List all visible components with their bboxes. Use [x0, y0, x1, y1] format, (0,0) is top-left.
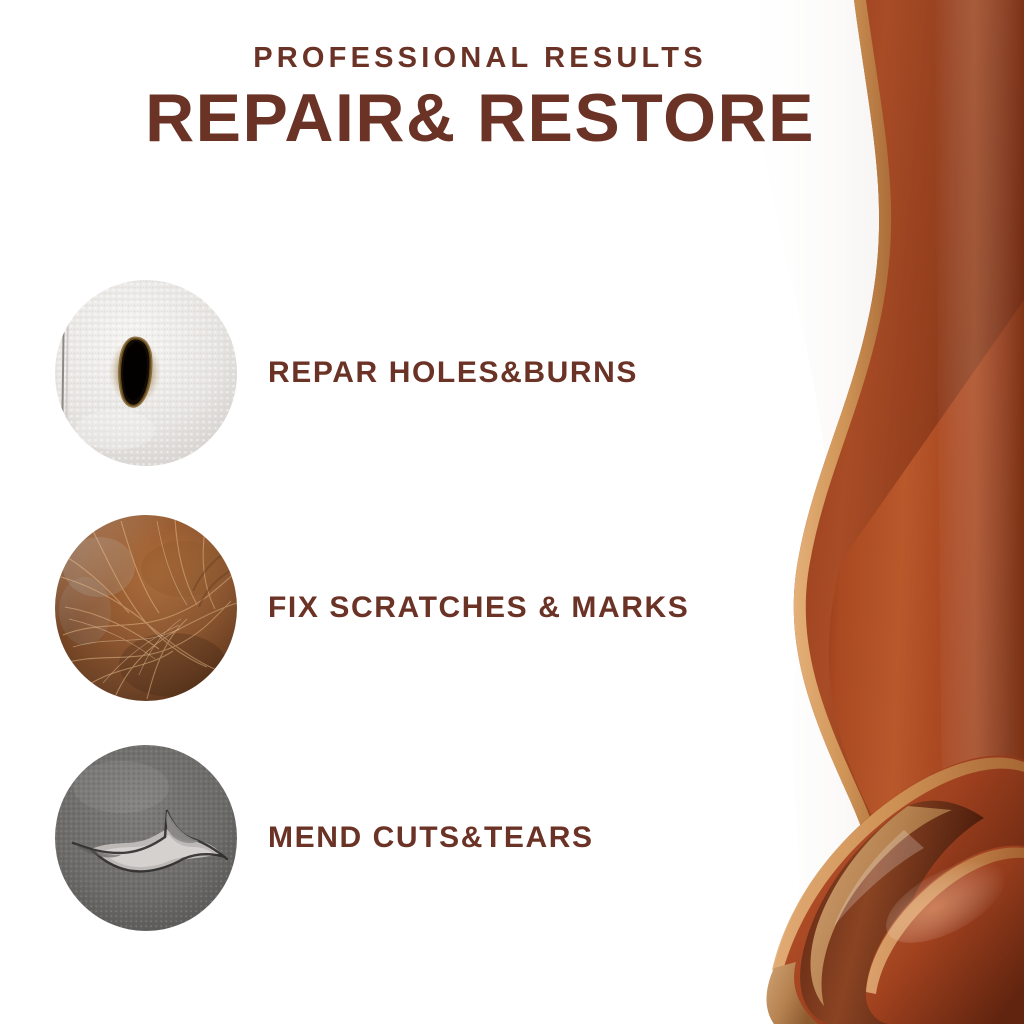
feature-row: FIX SCRATCHES & MARKS	[55, 515, 815, 701]
brown-leather-scratches-photo	[55, 515, 237, 701]
feature-row: REPAR HOLES&BURNS	[55, 280, 815, 466]
feature-label: FIX SCRATCHES & MARKS	[268, 515, 689, 701]
feature-label: MEND CUTS&TEARS	[268, 745, 594, 931]
feature-row: MEND CUTS&TEARS	[55, 745, 815, 931]
eyebrow-text: PROFESSIONAL RESULTS	[0, 44, 960, 73]
heading-block: PROFESSIONAL RESULTS REPAIR& RESTORE	[0, 44, 960, 154]
white-leather-burn-hole-photo	[55, 280, 237, 466]
feature-label: REPAR HOLES&BURNS	[268, 280, 638, 466]
promo-banner: PROFESSIONAL RESULTS REPAIR& RESTORE	[0, 0, 1024, 1024]
page-title: REPAIR& RESTORE	[0, 83, 960, 154]
grey-leather-tear-photo	[55, 745, 237, 931]
